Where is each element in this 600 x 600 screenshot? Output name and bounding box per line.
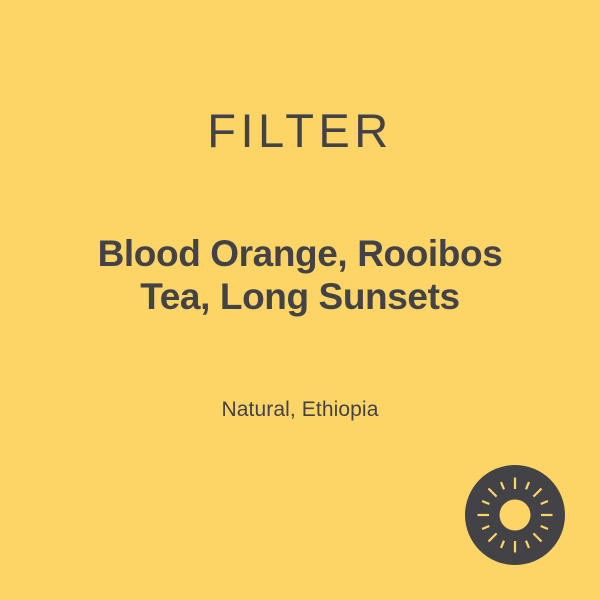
page-title: FILTER (0, 102, 600, 160)
origin-subtitle: Natural, Ethiopia (0, 396, 600, 424)
tasting-notes-heading: Blood Orange, Rooibos Tea, Long Sunsets (0, 232, 600, 318)
coffee-label-card: FILTER Blood Orange, Rooibos Tea, Long S… (0, 0, 600, 600)
sun-icon (465, 465, 565, 565)
tasting-notes-line-2: Tea, Long Sunsets (0, 275, 600, 318)
tasting-notes-line-1: Blood Orange, Rooibos (0, 232, 600, 275)
sun-badge (465, 465, 565, 565)
